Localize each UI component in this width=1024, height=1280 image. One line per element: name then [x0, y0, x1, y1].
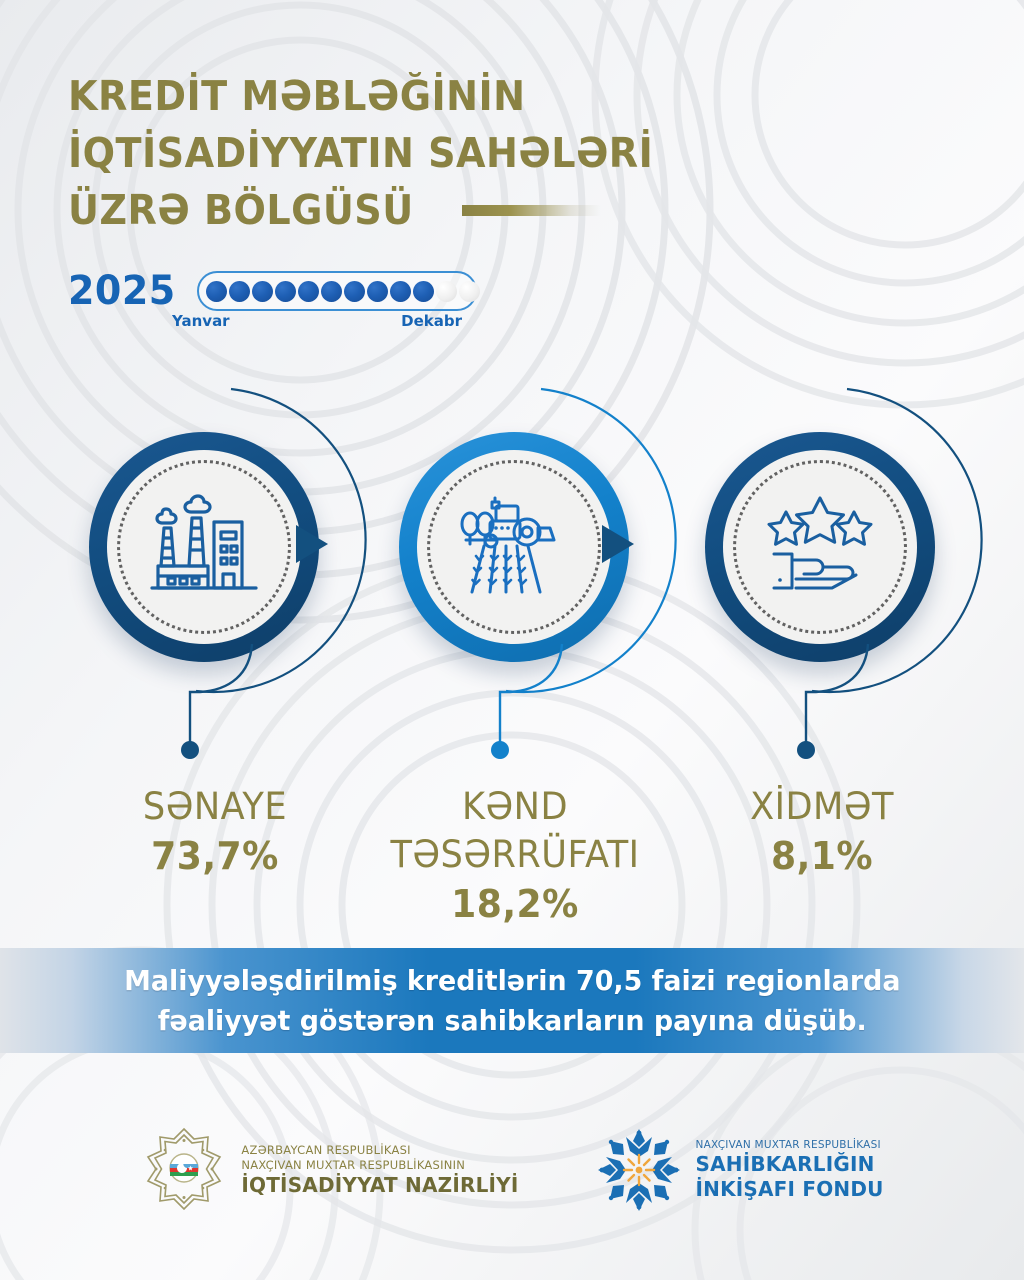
period-indicator: 2025 [68, 268, 477, 314]
infographic-page: KREDİT MƏBLƏĞİNİN İQTİSADİYYATIN SAHƏLƏR… [0, 0, 1024, 1280]
sector-labels: SƏNAYE 73,7% KƏND TƏSƏRRÜFATI 18,2% XİDM… [0, 775, 1024, 935]
title-line-2: İQTİSADİYYATIN SAHƏLƏRİ [68, 125, 663, 182]
fund-logo: NAXÇIVAN MUXTAR RESPUBLİKASI SAHİBKARLIĞ… [596, 1127, 883, 1213]
tractor-icon [454, 492, 574, 602]
title-line-1: KREDİT MƏBLƏĞİNİN [68, 68, 663, 125]
gold-dash-accent [462, 205, 601, 216]
footer-logos: AZƏRBAYCAN RESPUBLİKASI NAXÇIVAN MUXTAR … [0, 1105, 1024, 1235]
arrow-right-icon-2 [598, 523, 638, 565]
connector-lines [0, 640, 1024, 780]
month-dot-9 [390, 281, 411, 302]
sector-label-xidmet: XİDMƏT 8,1% [672, 783, 972, 881]
connector-3 [797, 644, 868, 759]
start-month-label: Yanvar [172, 312, 230, 330]
end-month-label: Dekabr [401, 312, 462, 330]
month-dot-12 [459, 281, 480, 302]
banner-line-2: fəaliyyət göstərən sahibkarların payına … [158, 1001, 867, 1041]
sector-label-senaye: SƏNAYE 73,7% [60, 783, 370, 881]
month-dot-7 [344, 281, 365, 302]
hand-stars-icon [760, 492, 880, 602]
month-dot-10 [413, 281, 434, 302]
month-progress-bar [197, 271, 477, 311]
page-title: KREDİT MƏBLƏĞİNİN İQTİSADİYYATIN SAHƏLƏR… [68, 68, 708, 239]
month-dot-5 [298, 281, 319, 302]
highlight-banner: Maliyyələşdirilmiş kreditlərin 70,5 faiz… [0, 948, 1024, 1053]
ministry-line-3: İQTİSADİYYAT NAZİRLİYİ [241, 1173, 518, 1198]
month-dot-6 [321, 281, 342, 302]
ministry-line-1: AZƏRBAYCAN RESPUBLİKASI [241, 1143, 518, 1158]
ministry-logo-text: AZƏRBAYCAN RESPUBLİKASI NAXÇIVAN MUXTAR … [241, 1143, 518, 1198]
sector-inner-disc-3 [723, 450, 917, 644]
connector-1 [181, 644, 252, 759]
sector-label-kend-teserrufati: KƏND TƏSƏRRÜFATI 18,2% [350, 783, 680, 929]
ministry-logo: AZƏRBAYCAN RESPUBLİKASI NAXÇIVAN MUXTAR … [140, 1126, 518, 1214]
month-dot-4 [275, 281, 296, 302]
connector-2 [491, 644, 562, 759]
fund-line-3: İNKİŞAFI FONDU [695, 1177, 883, 1202]
sector-percent-3: 8,1% [680, 831, 965, 881]
month-dot-11 [436, 281, 457, 302]
month-range-labels: Yanvar Dekabr [172, 312, 462, 330]
sector-name-1: SƏNAYE [68, 783, 363, 831]
arrow-right-icon-1 [292, 523, 332, 565]
year-label: 2025 [68, 268, 176, 314]
fund-logo-text: NAXÇIVAN MUXTAR RESPUBLİKASI SAHİBKARLIĞ… [695, 1138, 883, 1202]
sector-ring-3 [705, 432, 935, 662]
month-dot-8 [367, 281, 388, 302]
ministry-emblem-icon [140, 1126, 228, 1214]
sector-name-3: XİDMƏT [680, 783, 965, 831]
ministry-line-2: NAXÇIVAN MUXTAR RESPUBLİKASININ [241, 1158, 518, 1173]
fund-line-2: SAHİBKARLIĞIN [695, 1152, 883, 1177]
fund-emblem-icon [596, 1127, 682, 1213]
title-line-3: ÜZRƏ BÖLGÜSÜ [68, 182, 414, 239]
sector-percent-1: 73,7% [68, 831, 363, 881]
month-dot-2 [229, 281, 250, 302]
fund-line-1: NAXÇIVAN MUXTAR RESPUBLİKASI [695, 1138, 883, 1152]
title-line-3-row: ÜZRƏ BÖLGÜSÜ [68, 182, 708, 239]
sector-ring-2 [399, 432, 629, 662]
sector-name-2: KƏND TƏSƏRRÜFATI [358, 783, 672, 879]
month-dot-1 [206, 281, 227, 302]
banner-line-1: Maliyyələşdirilmiş kreditlərin 70,5 faiz… [124, 961, 900, 1001]
sector-ring-1 [89, 432, 319, 662]
sector-inner-disc-1 [107, 450, 301, 644]
month-dot-3 [252, 281, 273, 302]
sector-inner-disc-2 [417, 450, 611, 644]
sector-percent-2: 18,2% [358, 879, 672, 929]
factory-icon [144, 492, 264, 602]
